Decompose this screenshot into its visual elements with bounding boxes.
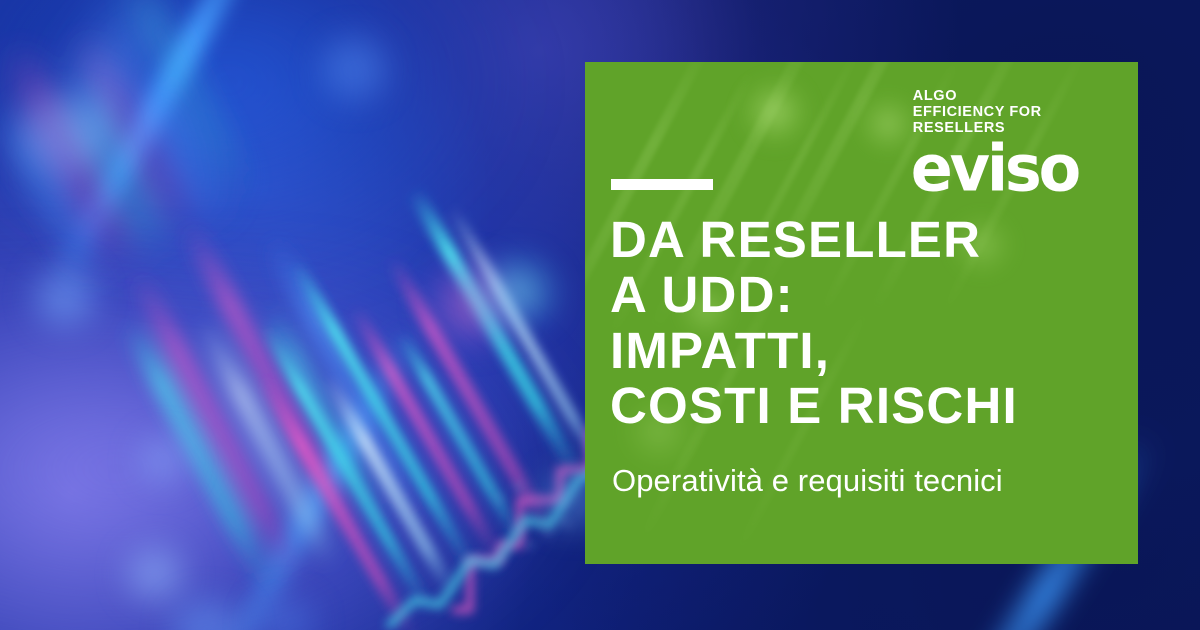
logo-wordmark: eviso (911, 139, 1078, 198)
eviso-logo: ALGO EFFICIENCY FOR RESELLERS eviso (911, 88, 1078, 196)
page-subtitle: Operatività e requisiti tecnici (612, 462, 1128, 499)
bokeh-glow-cyan (470, 252, 566, 332)
bokeh-dot-4 (140, 438, 186, 482)
poster-canvas: ALGO EFFICIENCY FOR RESELLERS eviso DA R… (0, 0, 1200, 630)
card-glow-1 (735, 76, 815, 148)
logo-tagline: ALGO EFFICIENCY FOR RESELLERS (913, 88, 1078, 137)
page-title: DA RESELLER A UdD: IMPATTI, COSTI E RISC… (610, 212, 1128, 433)
bokeh-dot-2 (322, 38, 386, 100)
green-content-card: ALGO EFFICIENCY FOR RESELLERS eviso DA R… (585, 62, 1138, 564)
title-rule (611, 179, 713, 190)
bokeh-dot-3 (128, 548, 182, 600)
bokeh-dot-7 (18, 100, 114, 170)
bokeh-dot-1 (36, 268, 94, 326)
